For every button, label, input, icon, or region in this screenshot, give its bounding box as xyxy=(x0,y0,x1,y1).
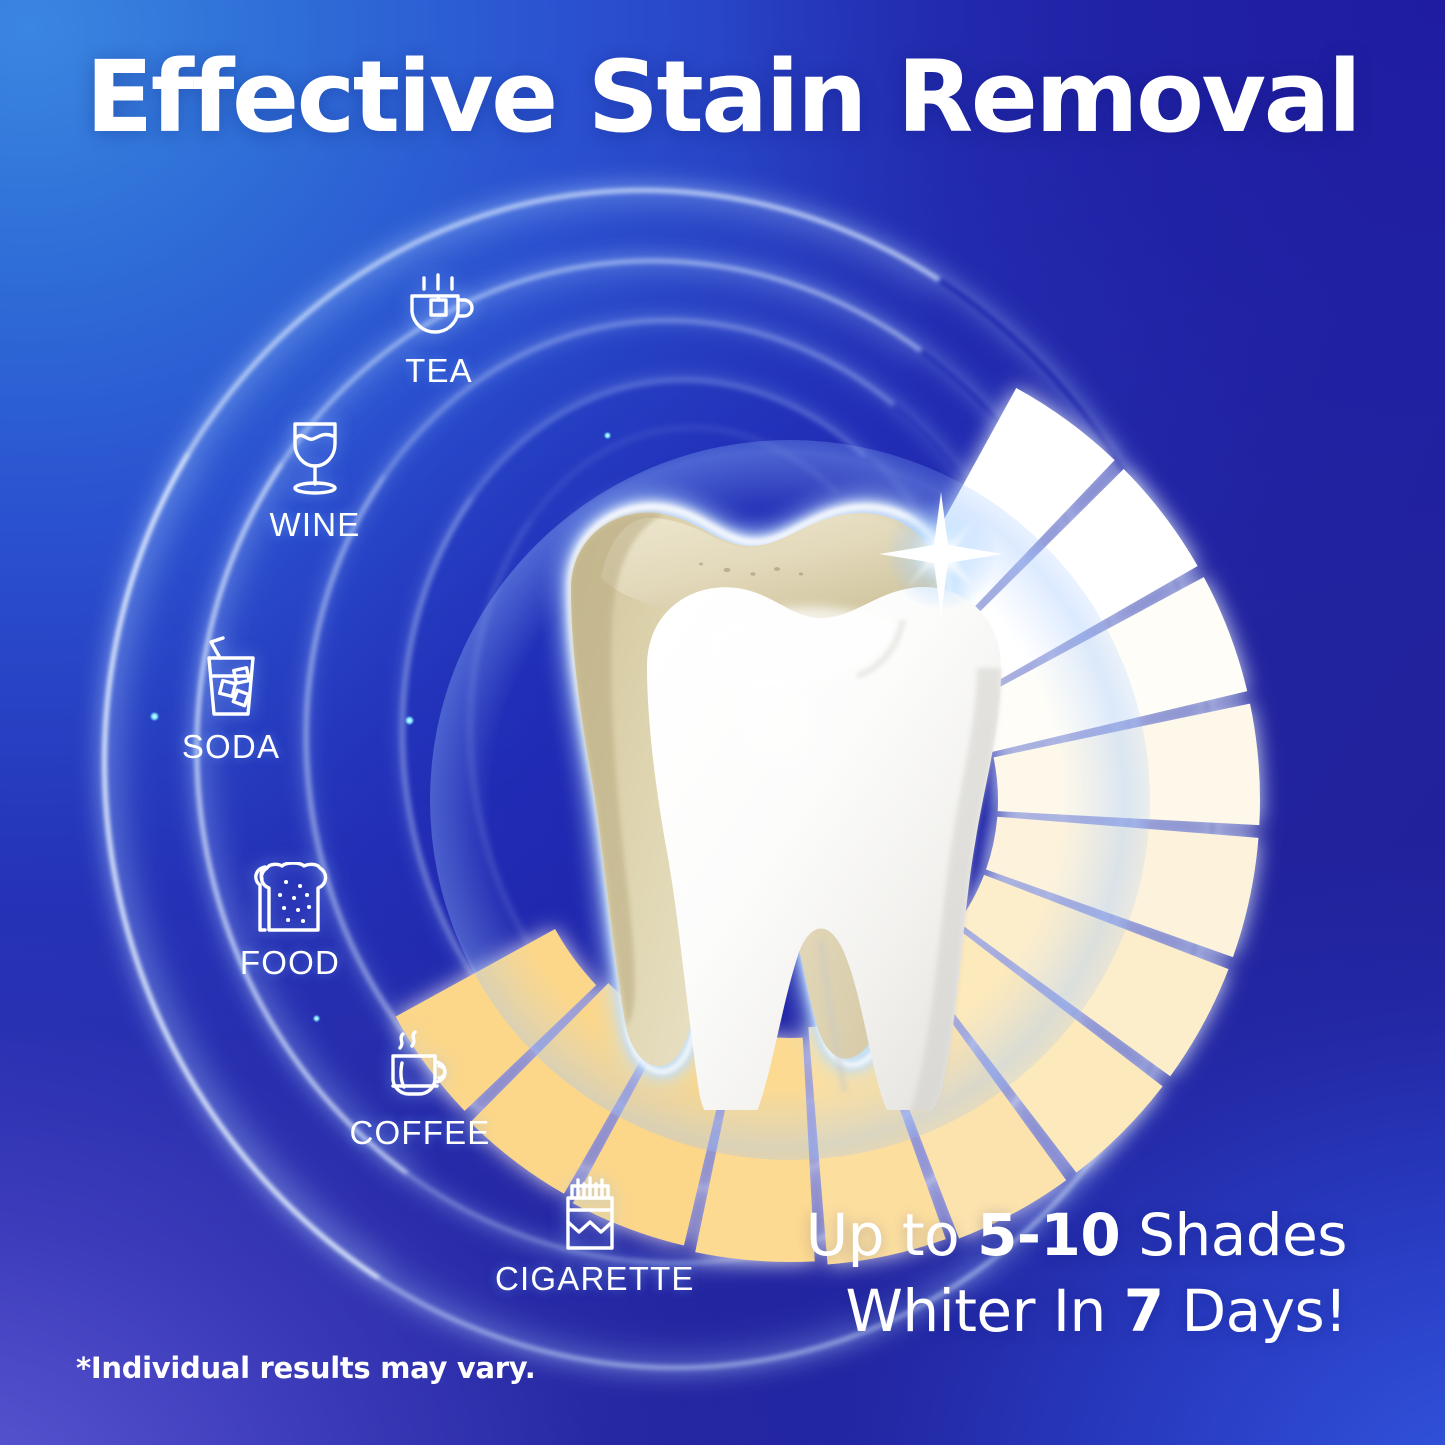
wine-glass-icon xyxy=(220,418,410,498)
stain-source-label: COFFEE xyxy=(325,1114,515,1152)
tooth-illustration xyxy=(505,470,1065,1110)
claim-line1-pre: Up to xyxy=(806,1201,977,1269)
stain-source-label: SODA xyxy=(136,728,326,766)
coffee-cup-icon xyxy=(325,1030,515,1106)
teacup-icon xyxy=(344,272,534,344)
disclaimer-text: *Individual results may vary. xyxy=(76,1351,535,1385)
claim-line1-post: Shades xyxy=(1120,1201,1347,1269)
results-claim: Up to 5-10 Shades Whiter In 7 Days! xyxy=(806,1198,1347,1349)
claim-shades-count: 5-10 xyxy=(977,1201,1120,1269)
stain-source-coffee: COFFEE xyxy=(325,1030,515,1152)
claim-line-1: Up to 5-10 Shades xyxy=(806,1198,1347,1273)
stain-source-label: CIGARETTE xyxy=(495,1260,685,1298)
stain-source-food: FOOD xyxy=(195,862,385,982)
bread-slice-icon xyxy=(195,862,385,936)
stain-source-tea: TEA xyxy=(344,272,534,390)
stain-source-label: WINE xyxy=(220,506,410,544)
stain-source-label: TEA xyxy=(344,352,534,390)
stain-source-label: FOOD xyxy=(195,944,385,982)
cigarette-pack-icon xyxy=(495,1170,685,1252)
soda-glass-icon xyxy=(136,636,326,720)
page-title: Effective Stain Removal xyxy=(0,48,1445,149)
claim-line2-post: Days! xyxy=(1164,1277,1347,1345)
claim-line-2: Whiter In 7 Days! xyxy=(806,1274,1347,1349)
claim-line2-pre: Whiter In xyxy=(845,1277,1123,1345)
stain-source-wine: WINE xyxy=(220,418,410,544)
claim-days-count: 7 xyxy=(1124,1277,1164,1345)
product-marketing-image: Effective Stain Removal TEA WINE xyxy=(0,0,1445,1445)
stain-source-cigarette: CIGARETTE xyxy=(495,1170,685,1298)
stain-source-soda: SODA xyxy=(136,636,326,766)
